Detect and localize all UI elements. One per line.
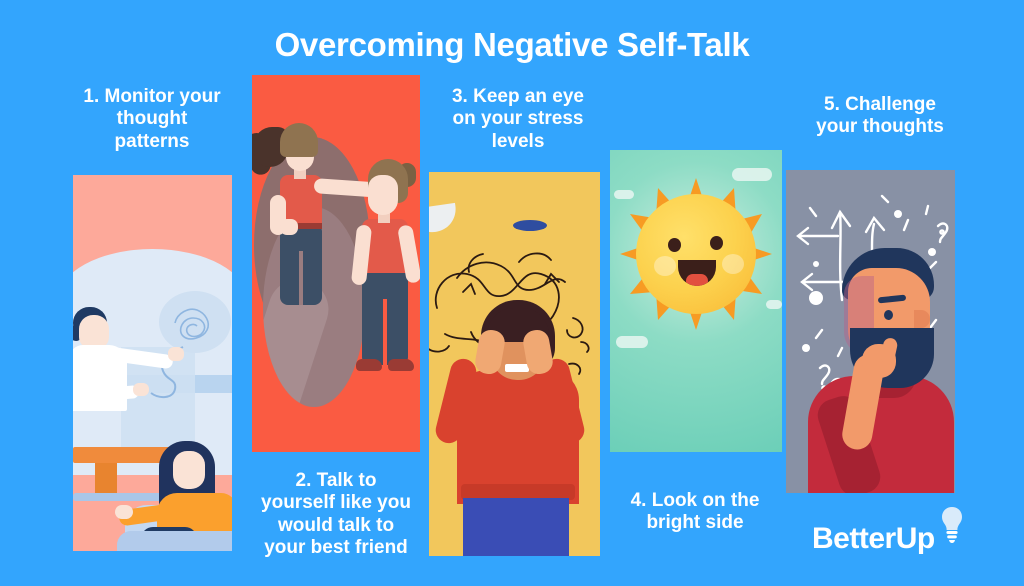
illustration-panel-5 — [786, 170, 955, 493]
therapist-hand-lower — [133, 383, 149, 396]
betterup-logo[interactable]: BetterUp — [812, 520, 972, 566]
illustration-panel-1 — [73, 175, 232, 551]
client-hand — [115, 505, 133, 519]
therapist-hand-upper — [168, 347, 184, 361]
step-caption-5: 5. Challenge your thoughts — [786, 94, 974, 139]
step-caption-1: 1. Monitor your thought patterns — [62, 86, 242, 153]
cloud-icon — [616, 336, 648, 348]
illustration-panel-3 — [429, 172, 600, 556]
lightbulb-icon — [940, 506, 964, 544]
step-caption-4: 4. Look on the bright side — [606, 490, 784, 535]
desk-leg — [95, 463, 117, 493]
woman-face — [368, 175, 398, 215]
sun-cheek-right — [722, 254, 744, 274]
woman-leg-gap — [383, 299, 387, 365]
armchair-seat — [117, 531, 232, 551]
desk-base — [73, 493, 173, 501]
step-caption-3: 3. Keep an eye on your stress levels — [428, 86, 608, 153]
sun-tongue — [686, 274, 708, 286]
therapist-head — [79, 315, 109, 349]
infographic-canvas: Overcoming Negative Self-Talk — [0, 0, 1024, 586]
page-title: Overcoming Negative Self-Talk — [0, 26, 1024, 64]
woman-shoe-right — [388, 359, 414, 371]
tangled-thread-icon — [169, 301, 221, 345]
person-pants — [463, 498, 569, 556]
illustration-panel-4 — [610, 150, 782, 452]
illustration-panel-2 — [252, 75, 420, 452]
reflection-fist — [280, 219, 298, 235]
sun-body — [636, 194, 756, 314]
woman-shoe-left — [356, 359, 382, 371]
client-face — [173, 451, 205, 489]
man-eye — [884, 310, 893, 320]
reflection-hair — [280, 123, 318, 157]
sun-eye-left — [668, 238, 681, 252]
sun-eye-right — [710, 236, 723, 250]
person-teeth — [505, 364, 529, 372]
sun-cheek-left — [654, 256, 676, 276]
step-caption-2: 2. Talk to yourself like you would talk … — [240, 470, 432, 560]
reflection-leg-gap — [299, 251, 303, 305]
logo-wordmark: BetterUp — [812, 522, 935, 556]
